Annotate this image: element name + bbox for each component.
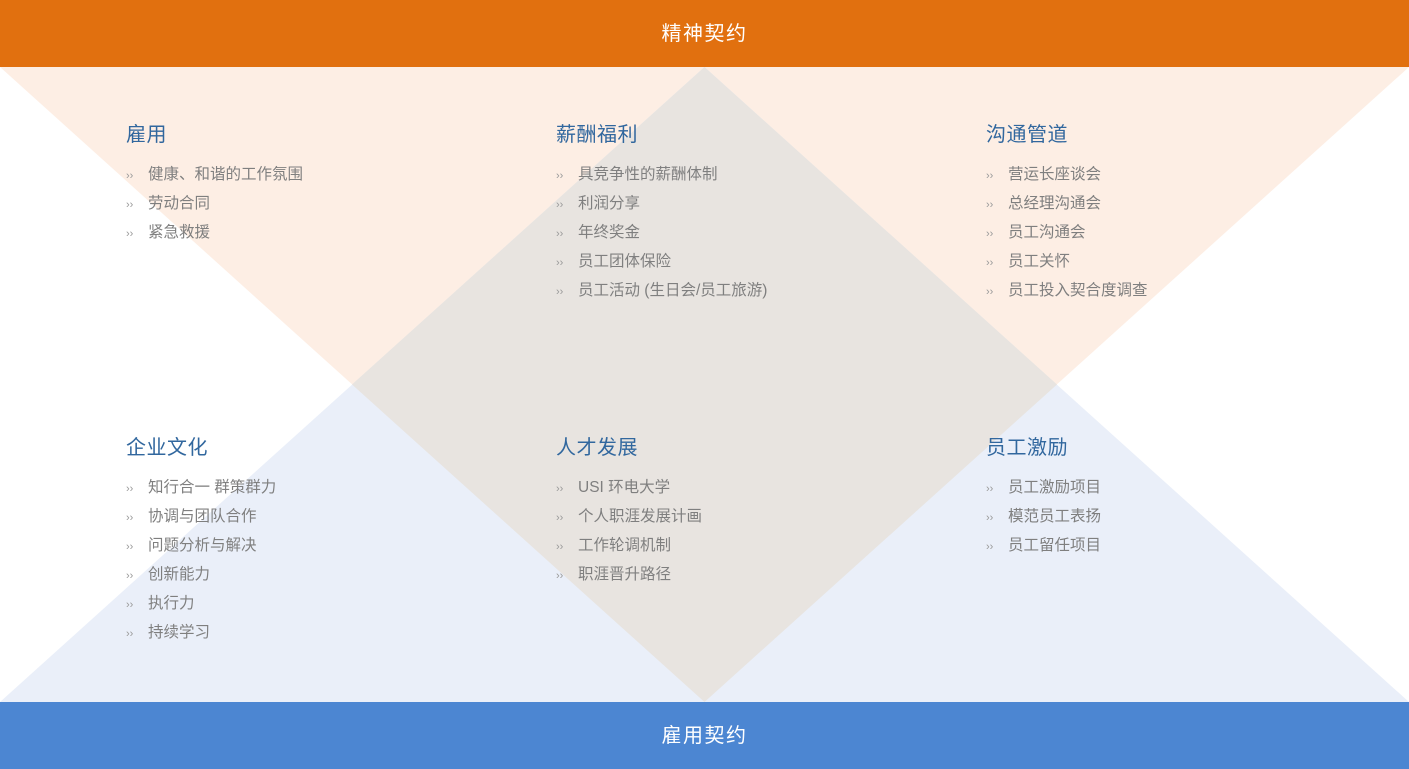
chevron-bullet-icon: ›› bbox=[126, 475, 148, 503]
group-communication-channels: 沟通管道 ›› 营运长座谈会 ›› 总经理沟通会 ›› 员工沟通会 ›› 员工关… bbox=[986, 67, 1409, 380]
list-item: ›› 员工投入契合度调查 bbox=[986, 277, 1409, 306]
list-item: ›› 紧急救援 bbox=[126, 219, 556, 248]
group-title: 雇用 bbox=[126, 125, 556, 145]
list-item-label: 工作轮调机制 bbox=[578, 532, 671, 560]
list-item-label: 紧急救援 bbox=[148, 219, 210, 247]
group-item-list: ›› 健康、和谐的工作氛围 ›› 劳动合同 ›› 紧急救援 bbox=[126, 161, 556, 248]
list-item-label: 员工团体保险 bbox=[578, 248, 671, 276]
group-item-list: ›› 知行合一 群策群力 ›› 协调与团队合作 ›› 问题分析与解决 ›› 创新… bbox=[126, 474, 556, 648]
list-item-label: 营运长座谈会 bbox=[1008, 161, 1101, 189]
chevron-bullet-icon: ›› bbox=[126, 533, 148, 561]
chevron-bullet-icon: ›› bbox=[986, 533, 1008, 561]
chevron-bullet-icon: ›› bbox=[986, 162, 1008, 190]
group-title: 企业文化 bbox=[126, 438, 556, 458]
chevron-bullet-icon: ›› bbox=[126, 504, 148, 532]
group-item-list: ›› 员工激励项目 ›› 模范员工表扬 ›› 员工留任项目 bbox=[986, 474, 1409, 561]
list-item-label: 协调与团队合作 bbox=[148, 503, 257, 531]
group-employment: 雇用 ›› 健康、和谐的工作氛围 ›› 劳动合同 ›› 紧急救援 bbox=[126, 67, 556, 380]
footer-banner-label: 雇用契约 bbox=[662, 726, 748, 746]
chevron-bullet-icon: ›› bbox=[556, 191, 578, 219]
chevron-bullet-icon: ›› bbox=[986, 220, 1008, 248]
list-item-label: USI 环电大学 bbox=[578, 474, 670, 502]
chevron-bullet-icon: ›› bbox=[556, 278, 578, 306]
header-banner-label: 精神契约 bbox=[662, 24, 748, 44]
list-item: ›› 持续学习 bbox=[126, 619, 556, 648]
chevron-bullet-icon: ›› bbox=[556, 475, 578, 503]
list-item-label: 具竞争性的薪酬体制 bbox=[578, 161, 718, 189]
chevron-bullet-icon: ›› bbox=[556, 220, 578, 248]
list-item: ›› 员工留任项目 bbox=[986, 532, 1409, 561]
list-item-label: 员工活动 (生日会/员工旅游) bbox=[578, 277, 767, 305]
group-title: 沟通管道 bbox=[986, 125, 1409, 145]
list-item-label: 持续学习 bbox=[148, 619, 210, 647]
groups-grid: 雇用 ›› 健康、和谐的工作氛围 ›› 劳动合同 ›› 紧急救援 薪酬福利 bbox=[0, 67, 1409, 702]
group-title: 人才发展 bbox=[556, 438, 986, 458]
group-talent-development: 人才发展 ›› USI 环电大学 ›› 个人职涯发展计画 ›› 工作轮调机制 ›… bbox=[556, 380, 986, 702]
group-employee-motivation: 员工激励 ›› 员工激励项目 ›› 模范员工表扬 ›› 员工留任项目 bbox=[986, 380, 1409, 702]
chevron-bullet-icon: ›› bbox=[986, 504, 1008, 532]
chevron-bullet-icon: ›› bbox=[126, 620, 148, 648]
list-item-label: 员工留任项目 bbox=[1008, 532, 1101, 560]
list-item: ›› 总经理沟通会 bbox=[986, 190, 1409, 219]
list-item-label: 个人职涯发展计画 bbox=[578, 503, 702, 531]
list-item: ›› 创新能力 bbox=[126, 561, 556, 590]
chevron-bullet-icon: ›› bbox=[126, 220, 148, 248]
group-compensation-benefits: 薪酬福利 ›› 具竞争性的薪酬体制 ›› 利润分享 ›› 年终奖金 ›› 员工团… bbox=[556, 67, 986, 380]
header-banner: 精神契约 bbox=[0, 0, 1409, 67]
chevron-bullet-icon: ›› bbox=[556, 249, 578, 277]
list-item: ›› 利润分享 bbox=[556, 190, 986, 219]
list-item: ›› 员工活动 (生日会/员工旅游) bbox=[556, 277, 986, 306]
list-item-label: 员工投入契合度调查 bbox=[1008, 277, 1148, 305]
chevron-bullet-icon: ›› bbox=[126, 191, 148, 219]
chevron-bullet-icon: ›› bbox=[986, 191, 1008, 219]
list-item: ›› 具竞争性的薪酬体制 bbox=[556, 161, 986, 190]
list-item: ›› 问题分析与解决 bbox=[126, 532, 556, 561]
chevron-bullet-icon: ›› bbox=[556, 504, 578, 532]
list-item-label: 模范员工表扬 bbox=[1008, 503, 1101, 531]
list-item-label: 总经理沟通会 bbox=[1008, 190, 1101, 218]
list-item-label: 劳动合同 bbox=[148, 190, 210, 218]
footer-banner: 雇用契约 bbox=[0, 702, 1409, 769]
group-title: 员工激励 bbox=[986, 438, 1409, 458]
list-item: ›› 劳动合同 bbox=[126, 190, 556, 219]
group-item-list: ›› 具竞争性的薪酬体制 ›› 利润分享 ›› 年终奖金 ›› 员工团体保险 ›… bbox=[556, 161, 986, 306]
chevron-bullet-icon: ›› bbox=[986, 249, 1008, 277]
list-item: ›› 员工关怀 bbox=[986, 248, 1409, 277]
list-item-label: 员工关怀 bbox=[1008, 248, 1070, 276]
list-item: ›› 工作轮调机制 bbox=[556, 532, 986, 561]
list-item-label: 知行合一 群策群力 bbox=[148, 474, 276, 502]
chevron-bullet-icon: ›› bbox=[556, 162, 578, 190]
list-item: ›› 年终奖金 bbox=[556, 219, 986, 248]
list-item: ›› 员工沟通会 bbox=[986, 219, 1409, 248]
chevron-bullet-icon: ›› bbox=[126, 562, 148, 590]
list-item-label: 职涯晋升路径 bbox=[578, 561, 671, 589]
list-item-label: 创新能力 bbox=[148, 561, 210, 589]
slide-canvas: 精神契约 雇用 ›› 健康、和谐的工作氛围 ›› 劳动合同 ›› 紧急救援 bbox=[0, 0, 1409, 769]
chevron-bullet-icon: ›› bbox=[986, 278, 1008, 306]
list-item: ›› 员工团体保险 bbox=[556, 248, 986, 277]
list-item-label: 员工激励项目 bbox=[1008, 474, 1101, 502]
chevron-bullet-icon: ›› bbox=[556, 562, 578, 590]
list-item: ›› USI 环电大学 bbox=[556, 474, 986, 503]
list-item: ›› 模范员工表扬 bbox=[986, 503, 1409, 532]
list-item: ›› 协调与团队合作 bbox=[126, 503, 556, 532]
group-corporate-culture: 企业文化 ›› 知行合一 群策群力 ›› 协调与团队合作 ›› 问题分析与解决 … bbox=[126, 380, 556, 702]
list-item: ›› 营运长座谈会 bbox=[986, 161, 1409, 190]
list-item-label: 员工沟通会 bbox=[1008, 219, 1086, 247]
list-item: ›› 员工激励项目 bbox=[986, 474, 1409, 503]
list-item-label: 健康、和谐的工作氛围 bbox=[148, 161, 303, 189]
list-item-label: 年终奖金 bbox=[578, 219, 640, 247]
chevron-bullet-icon: ›› bbox=[556, 533, 578, 561]
list-item: ›› 健康、和谐的工作氛围 bbox=[126, 161, 556, 190]
list-item: ›› 职涯晋升路径 bbox=[556, 561, 986, 590]
group-title: 薪酬福利 bbox=[556, 125, 986, 145]
list-item-label: 问题分析与解决 bbox=[148, 532, 257, 560]
list-item-label: 执行力 bbox=[148, 590, 195, 618]
list-item: ›› 知行合一 群策群力 bbox=[126, 474, 556, 503]
group-item-list: ›› 营运长座谈会 ›› 总经理沟通会 ›› 员工沟通会 ›› 员工关怀 ›› bbox=[986, 161, 1409, 306]
list-item: ›› 个人职涯发展计画 bbox=[556, 503, 986, 532]
chevron-bullet-icon: ›› bbox=[126, 162, 148, 190]
chevron-bullet-icon: ›› bbox=[126, 591, 148, 619]
list-item: ›› 执行力 bbox=[126, 590, 556, 619]
list-item-label: 利润分享 bbox=[578, 190, 640, 218]
group-item-list: ›› USI 环电大学 ›› 个人职涯发展计画 ›› 工作轮调机制 ›› 职涯晋… bbox=[556, 474, 986, 590]
chevron-bullet-icon: ›› bbox=[986, 475, 1008, 503]
